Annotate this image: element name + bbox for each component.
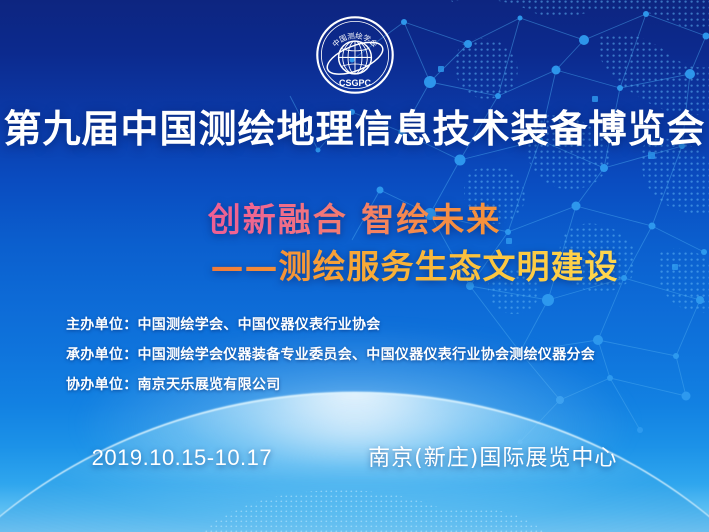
organizer-line-undertaker: 承办单位：中国测绘学会仪器装备专业委员会、中国仪器仪表行业协会测绘仪器分会 [66, 348, 689, 362]
slogan-line-2-row: ——测绘服务生态文明建设 [0, 240, 709, 288]
slogan-line-1-row: 创新融合 智绘未来 [0, 193, 709, 241]
expo-poster: 中国测绘学会 CSGPC 第九届中国测绘地理信息技术装备博览会 创新融合 智绘未… [0, 0, 709, 532]
slogan-line-1: 创新融合 智绘未来 [208, 193, 502, 241]
csgpc-logo: 中国测绘学会 CSGPC [314, 14, 396, 96]
organizer-line-host: 主办单位：中国测绘学会、中国仪器仪表行业协会 [66, 318, 689, 332]
footer-info: 2019.10.15-10.17 南京(新庄)国际展览中心 [0, 440, 709, 472]
event-venue: 南京(新庄)国际展览中心 [368, 440, 617, 472]
event-date: 2019.10.15-10.17 [92, 445, 273, 471]
main-title: 第九届中国测绘地理信息技术装备博览会 [0, 108, 709, 151]
csgpc-globe-emblem: 中国测绘学会 CSGPC [314, 14, 396, 96]
organizer-block: 主办单位：中国测绘学会、中国仪器仪表行业协会 承办单位：中国测绘学会仪器装备专业… [66, 318, 689, 408]
organizer-line-coorganizer: 协办单位：南京天乐展览有限公司 [66, 378, 689, 392]
logo-abbr: CSGPC [338, 78, 371, 88]
slogan-line-2: ——测绘服务生态文明建设 [211, 240, 619, 288]
